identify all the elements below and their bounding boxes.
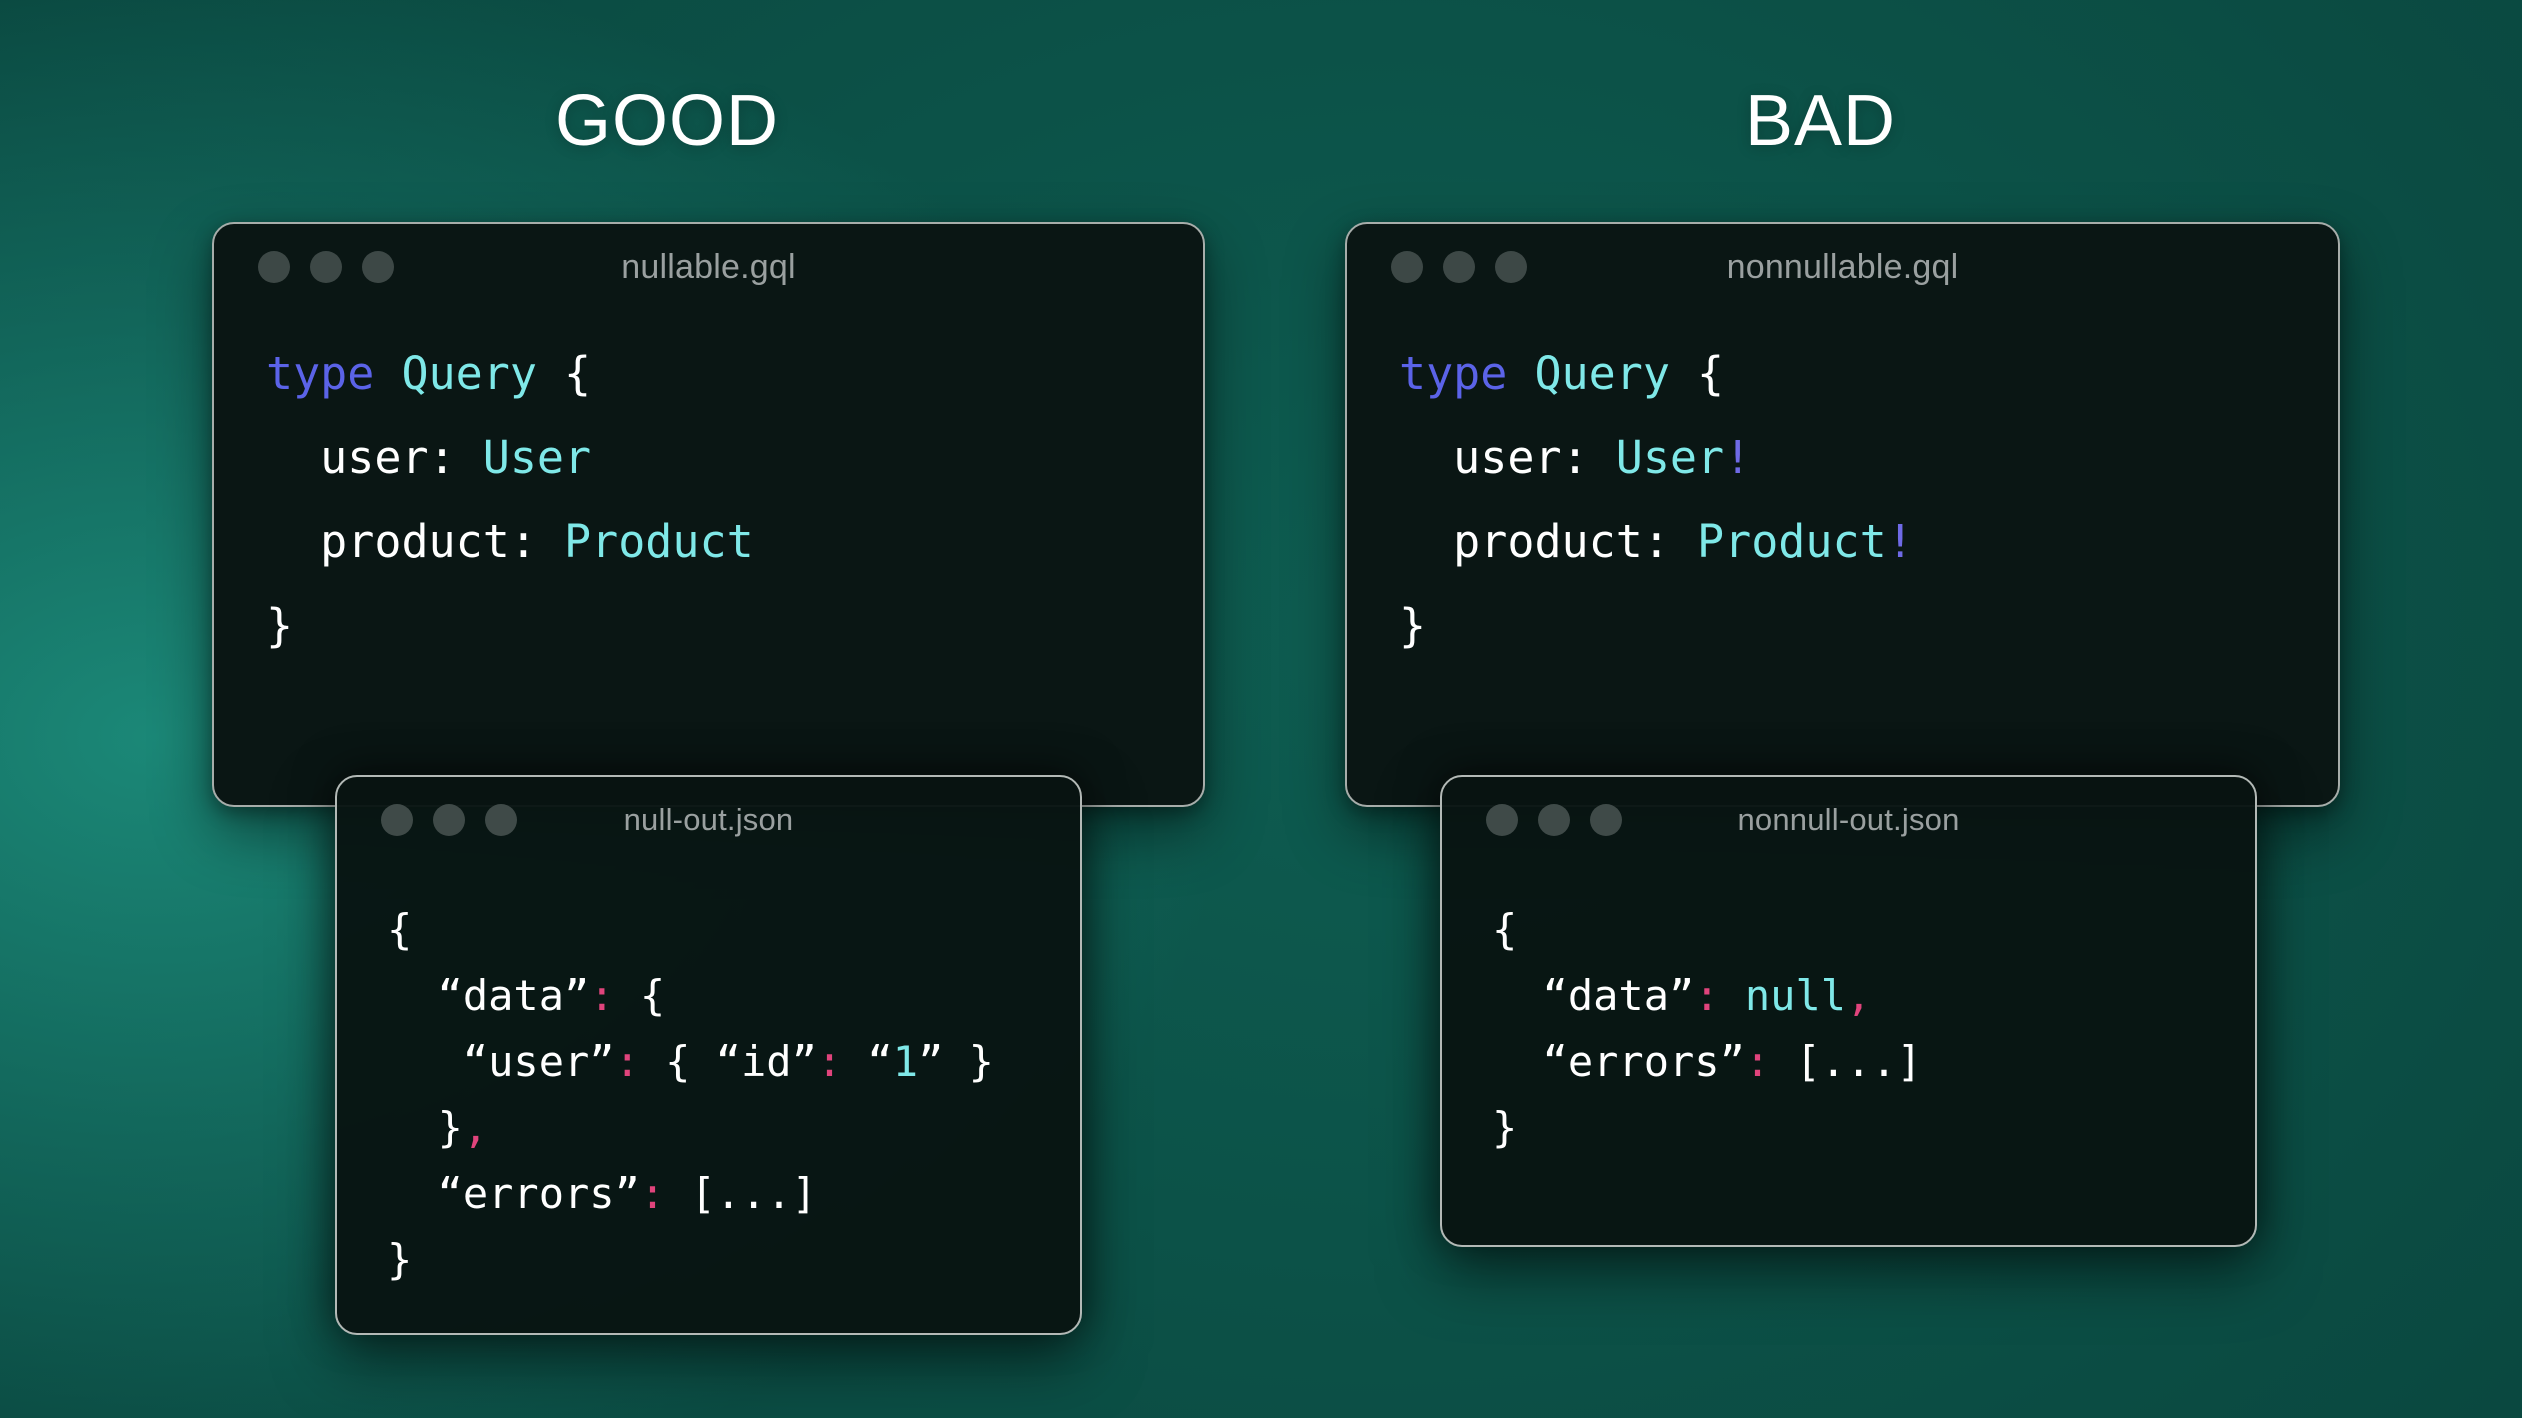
maximize-dot[interactable] (1495, 251, 1527, 283)
code-window-nullable-gql[interactable]: nullable.gql type Query { user: User pro… (212, 222, 1205, 807)
code-token-punct: { (387, 905, 412, 954)
code-token-colon: : (1694, 971, 1719, 1020)
code-token-key: “data” (387, 971, 589, 1020)
code-body: { “data”: { “user”: { “id”: “1” } }, “er… (337, 863, 1080, 1293)
window-controls (381, 804, 517, 836)
minimize-dot[interactable] (1443, 251, 1475, 283)
code-token-punct: } (387, 1103, 463, 1152)
code-line: } (1492, 1095, 2255, 1161)
code-line: product: Product (266, 500, 1203, 584)
code-token-punct: { (1670, 347, 1724, 400)
code-token-key: “errors” (1492, 1037, 1745, 1086)
code-window-nonnullable-gql[interactable]: nonnullable.gql type Query { user: User!… (1345, 222, 2340, 807)
code-token-plain: user: (1399, 431, 1616, 484)
code-line: user: User (266, 416, 1203, 500)
code-token-punct: } (266, 599, 293, 652)
code-token-comma: , (463, 1103, 488, 1152)
code-token-plain (1507, 347, 1534, 400)
code-token-key: “data” (1492, 971, 1694, 1020)
code-token-value: null (1745, 971, 1846, 1020)
code-token-plain (1720, 971, 1745, 1020)
window-controls (258, 251, 394, 283)
code-token-punct: [...] (665, 1169, 817, 1218)
code-token-punct: } (387, 1235, 412, 1284)
code-line: product: Product! (1399, 500, 2338, 584)
close-dot[interactable] (258, 251, 290, 283)
code-token-key: “user” (387, 1037, 615, 1086)
window-titlebar: nullable.gql (214, 224, 1203, 310)
code-line: “errors”: [...] (387, 1161, 1080, 1227)
code-token-colon: : (1745, 1037, 1770, 1086)
code-window-nonnull-out-json[interactable]: nonnull-out.json { “data”: null, “errors… (1440, 775, 2257, 1247)
code-token-key: { “id” (640, 1037, 817, 1086)
code-token-bang: ! (1724, 431, 1751, 484)
window-titlebar: nonnull-out.json (1442, 777, 2255, 863)
code-line: type Query { (266, 332, 1203, 416)
code-token-type: Query (401, 347, 536, 400)
code-line: { (387, 897, 1080, 963)
code-line: type Query { (1399, 332, 2338, 416)
code-line: } (266, 584, 1203, 668)
minimize-dot[interactable] (1538, 804, 1570, 836)
code-window-null-out-json[interactable]: null-out.json { “data”: { “user”: { “id”… (335, 775, 1082, 1335)
window-controls (1391, 251, 1527, 283)
code-token-plain: product: (266, 515, 564, 568)
code-token-punct: ” } (918, 1037, 994, 1086)
code-token-type: User (1616, 431, 1724, 484)
minimize-dot[interactable] (310, 251, 342, 283)
code-line: } (387, 1227, 1080, 1293)
code-body: { “data”: null, “errors”: [...]} (1442, 863, 2255, 1161)
code-line: user: User! (1399, 416, 2338, 500)
code-line: { (1492, 897, 2255, 963)
code-token-colon: : (817, 1037, 842, 1086)
minimize-dot[interactable] (433, 804, 465, 836)
code-token-punct: } (1492, 1103, 1517, 1152)
maximize-dot[interactable] (1590, 804, 1622, 836)
close-dot[interactable] (1486, 804, 1518, 836)
code-token-bang: ! (1887, 515, 1914, 568)
code-token-plain (374, 347, 401, 400)
maximize-dot[interactable] (362, 251, 394, 283)
code-token-punct: } (1399, 599, 1426, 652)
code-token-type: Query (1534, 347, 1669, 400)
code-token-punct: { (537, 347, 591, 400)
code-token-punct: [...] (1770, 1037, 1922, 1086)
comparison-stage: GOOD BAD nullable.gql type Query { user:… (0, 0, 2522, 1418)
code-token-comma: , (1846, 971, 1871, 1020)
column-title-bad: BAD (1745, 85, 1896, 157)
column-title-good: GOOD (555, 85, 779, 157)
code-token-value: 1 (893, 1037, 918, 1086)
code-token-type: Product (1697, 515, 1887, 568)
code-token-punct: “ (842, 1037, 893, 1086)
maximize-dot[interactable] (485, 804, 517, 836)
window-controls (1486, 804, 1622, 836)
code-line: “errors”: [...] (1492, 1029, 2255, 1095)
code-token-colon: : (640, 1169, 665, 1218)
code-token-punct: { (615, 971, 666, 1020)
code-line: }, (387, 1095, 1080, 1161)
code-token-plain: user: (266, 431, 483, 484)
code-line: “user”: { “id”: “1” } (387, 1029, 1080, 1095)
code-token-colon: : (615, 1037, 640, 1086)
code-line: “data”: null, (1492, 963, 2255, 1029)
code-token-keyword: type (1399, 347, 1507, 400)
window-titlebar: null-out.json (337, 777, 1080, 863)
code-body: type Query { user: User! product: Produc… (1347, 310, 2338, 668)
code-token-plain: product: (1399, 515, 1697, 568)
window-titlebar: nonnullable.gql (1347, 224, 2338, 310)
code-token-punct: { (1492, 905, 1517, 954)
code-token-keyword: type (266, 347, 374, 400)
code-token-key: “errors” (387, 1169, 640, 1218)
close-dot[interactable] (1391, 251, 1423, 283)
close-dot[interactable] (381, 804, 413, 836)
code-token-colon: : (589, 971, 614, 1020)
code-line: } (1399, 584, 2338, 668)
code-token-type: Product (564, 515, 754, 568)
code-line: “data”: { (387, 963, 1080, 1029)
code-body: type Query { user: User product: Product… (214, 310, 1203, 668)
code-token-type: User (483, 431, 591, 484)
